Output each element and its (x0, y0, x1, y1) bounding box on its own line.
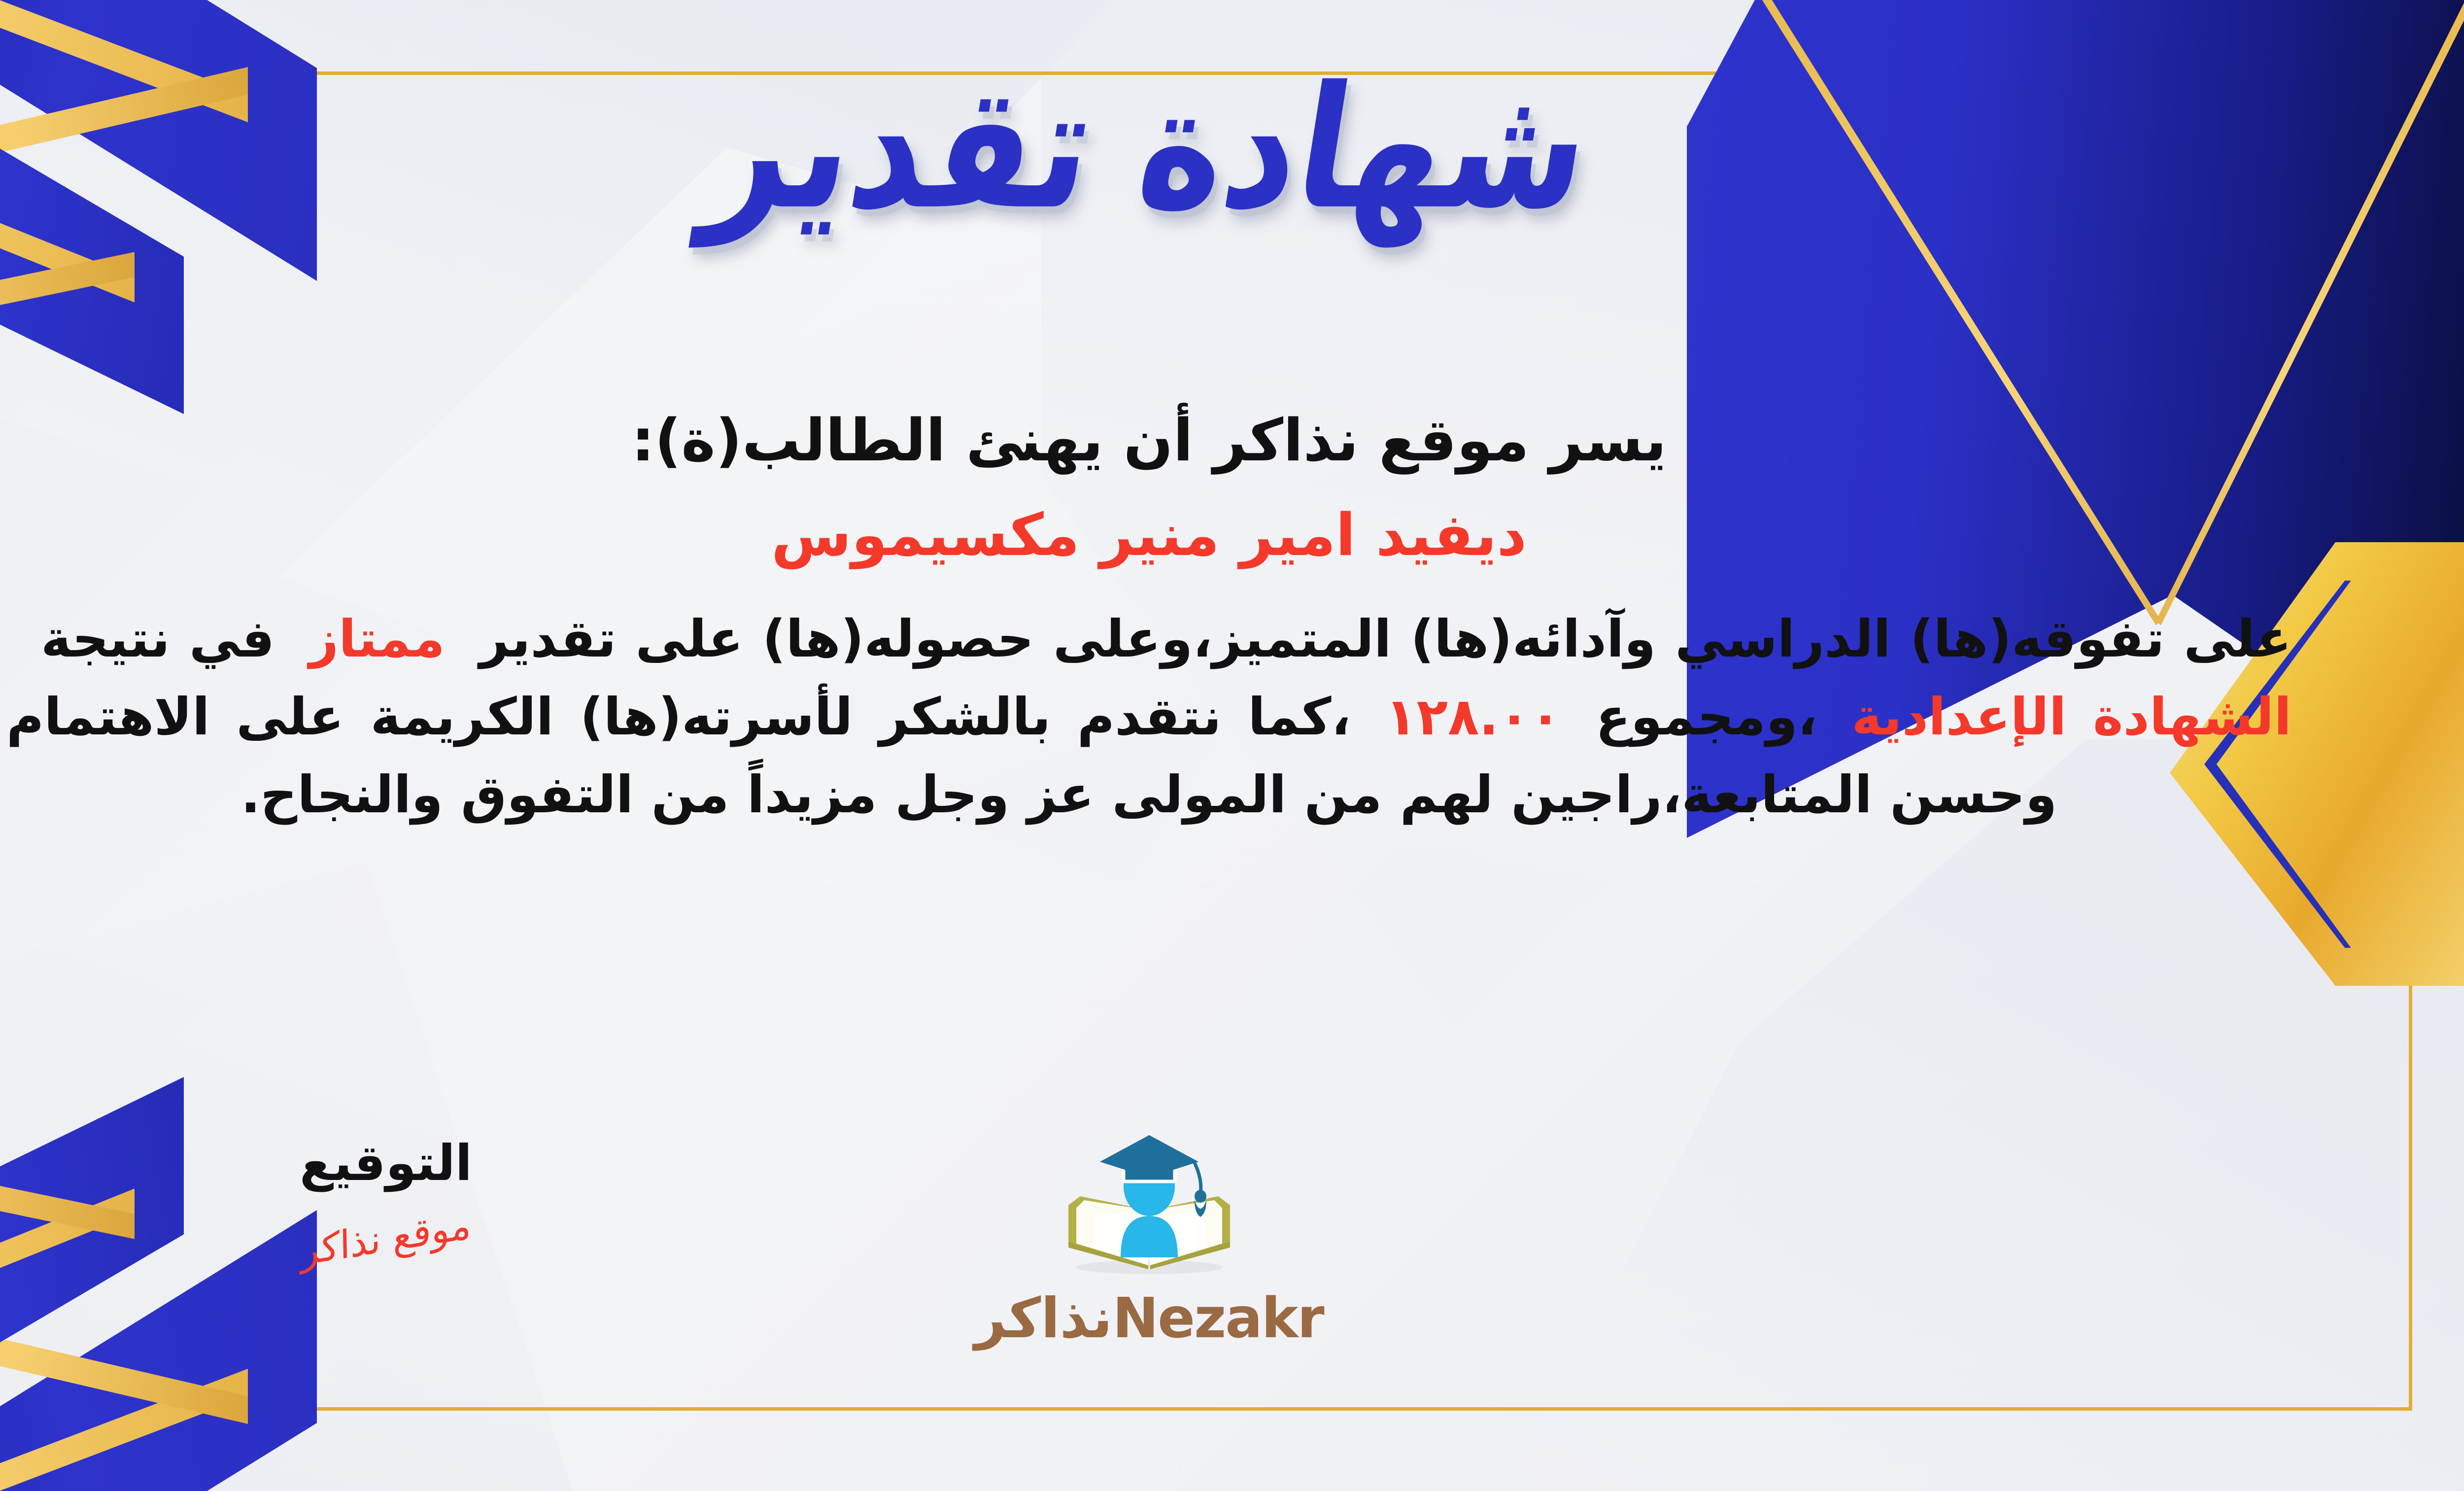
paragraph-segment-achievement: على تفوقه(ها) الدراسي وآدائه(ها) المتميز… (479, 609, 2292, 669)
certificate-canvas: شهادة تقدير يسر موقع نذاكر أن يهنئ الطال… (0, 0, 2464, 1491)
brand-wordmark-latin: Nezakr (1112, 1286, 1323, 1351)
certificate-paragraph: على تفوقه(ها) الدراسي وآدائه(ها) المتميز… (0, 600, 2316, 833)
total-score-value: ١٢٨.٠٠ (1385, 687, 1561, 747)
graduate-book-logo-icon (1021, 1121, 1277, 1289)
grade-value: ممتاز (309, 609, 445, 669)
congratulation-line: يسر موقع نذاكر أن يهنئ الطالب(ة): (0, 404, 2316, 477)
brand-wordmark-arabic: نذاكر (974, 1286, 1112, 1351)
signature-label: التوقيع (238, 1136, 534, 1190)
paragraph-segment-result: في نتيجة (41, 609, 274, 669)
paragraph-segment-total-label: ،ومجموع (1596, 687, 1817, 747)
exam-name-value: الشهادة الإعدادية (1851, 687, 2292, 747)
signature-handwriting: موقع نذاكر (300, 1202, 472, 1276)
signature-block: التوقيع موقع نذاكر (238, 1136, 534, 1262)
brand-logo: Nezakrنذاكر (967, 1121, 1332, 1346)
certificate-title: شهادة تقدير (696, 61, 1602, 238)
corner-ornament-top-left (0, 0, 366, 409)
brand-wordmark: Nezakrنذاكر (967, 1291, 1332, 1346)
certificate-footer: التوقيع موقع نذاكر (0, 1097, 2316, 1392)
certificate-body: يسر موقع نذاكر أن يهنئ الطالب(ة): ديفيد … (0, 404, 2316, 833)
student-name: ديفيد امير منير مكسيموس (0, 499, 2316, 572)
